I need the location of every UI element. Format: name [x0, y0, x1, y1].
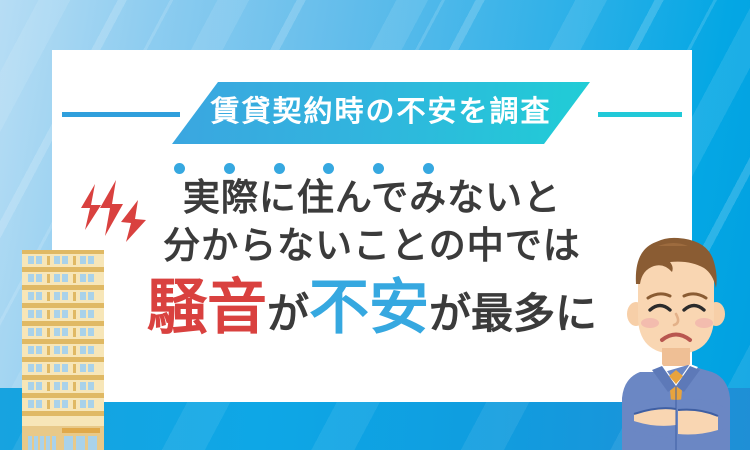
emphasis-dot — [323, 163, 334, 174]
emphasis-dot — [224, 163, 235, 174]
banner-rule-left — [62, 112, 180, 117]
headline-tail: が最多に — [429, 284, 597, 344]
emphasis-dot — [373, 163, 384, 174]
emphasis-dots — [174, 162, 434, 174]
headline-block: 実際に住んでみないと 分からないことの中では 騒音 が 不安 が最多に — [52, 174, 692, 344]
banner-header: 賃貸契約時の不安を調査 — [52, 82, 692, 144]
emphasis-dot — [174, 163, 185, 174]
keyword-noise: 騒音 — [147, 278, 267, 338]
banner-rule-right — [598, 112, 682, 117]
keyword-anxiety: 不安 — [309, 278, 429, 338]
content-card: 賃貸契約時の不安を調査 実際に住んでみないと 分からないことの中では 騒音 が — [52, 50, 692, 402]
emphasis-dot — [423, 163, 434, 174]
worried-businessman-icon — [600, 236, 750, 450]
headline-line-1: 実際に住んでみないと — [52, 174, 692, 222]
infographic-banner: 賃貸契約時の不安を調査 実際に住んでみないと 分からないことの中では 騒音 が — [0, 0, 750, 450]
emphasis-dot — [274, 163, 285, 174]
headline-line-2: 分からないことの中では — [52, 222, 692, 270]
apartment-building-icon — [20, 250, 106, 450]
banner-label: 賃貸契約時の不安を調査 — [210, 98, 551, 129]
particle-ga-1: が — [267, 284, 309, 344]
banner-ribbon: 賃貸契約時の不安を調査 — [172, 82, 590, 144]
headline-result-line: 騒音 が 不安 が最多に — [52, 278, 692, 344]
